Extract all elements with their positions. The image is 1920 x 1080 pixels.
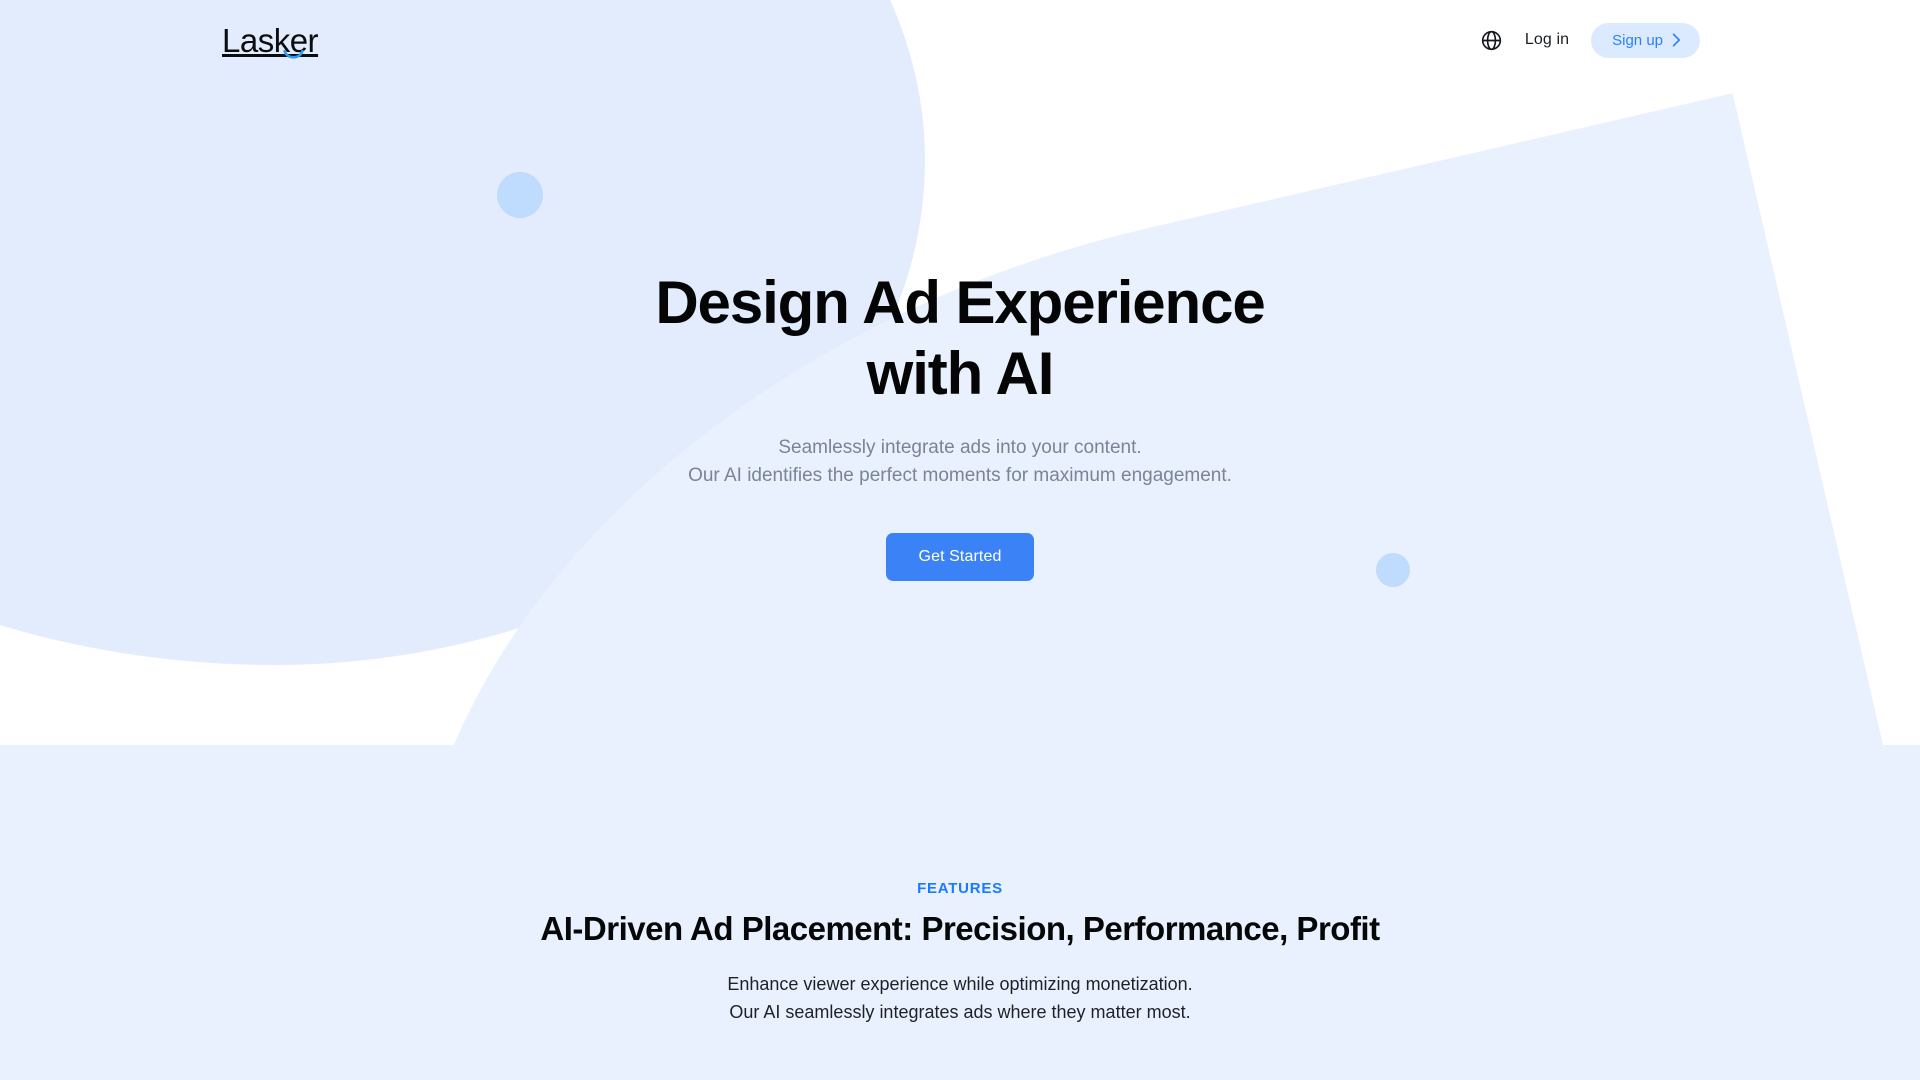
- signup-button-label: Sign up: [1612, 32, 1663, 49]
- brand-logo-text: Lasker: [222, 22, 318, 59]
- login-link[interactable]: Log in: [1525, 31, 1569, 49]
- features-title: AI-Driven Ad Placement: Precision, Perfo…: [540, 910, 1379, 948]
- globe-icon: [1480, 29, 1503, 52]
- hero-subtitle-line-2: Our AI identifies the perfect moments fo…: [688, 465, 1232, 486]
- get-started-button[interactable]: Get Started: [886, 533, 1034, 581]
- hero-title: Design Ad Experience with AI: [655, 268, 1264, 409]
- features-section: FEATURES AI-Driven Ad Placement: Precisi…: [0, 745, 1920, 1080]
- hero-subtitle: Seamlessly integrate ads into your conte…: [688, 434, 1232, 490]
- signup-button[interactable]: Sign up: [1591, 23, 1700, 58]
- hero-content: Design Ad Experience with AI Seamlessly …: [0, 0, 1920, 745]
- logo-smile-icon: [283, 50, 304, 61]
- nav-actions: Log in Sign up: [1480, 23, 1700, 58]
- language-globe-button[interactable]: [1480, 29, 1503, 52]
- features-subtitle: Enhance viewer experience while optimizi…: [727, 970, 1192, 1026]
- chevron-right-icon: [1672, 33, 1681, 47]
- features-eyebrow-label: FEATURES: [917, 880, 1003, 897]
- hero-title-line-1: Design Ad Experience: [655, 269, 1264, 336]
- features-subtitle-line-1: Enhance viewer experience while optimizi…: [727, 974, 1192, 994]
- landing-page: Lasker Log in Sign up: [0, 0, 1920, 1080]
- hero-title-line-2: with AI: [867, 340, 1054, 407]
- hero-subtitle-line-1: Seamlessly integrate ads into your conte…: [778, 437, 1141, 458]
- features-subtitle-line-2: Our AI seamlessly integrates ads where t…: [729, 1002, 1190, 1022]
- brand-logo[interactable]: Lasker: [222, 24, 318, 57]
- top-navigation-bar: Lasker Log in Sign up: [0, 0, 1920, 80]
